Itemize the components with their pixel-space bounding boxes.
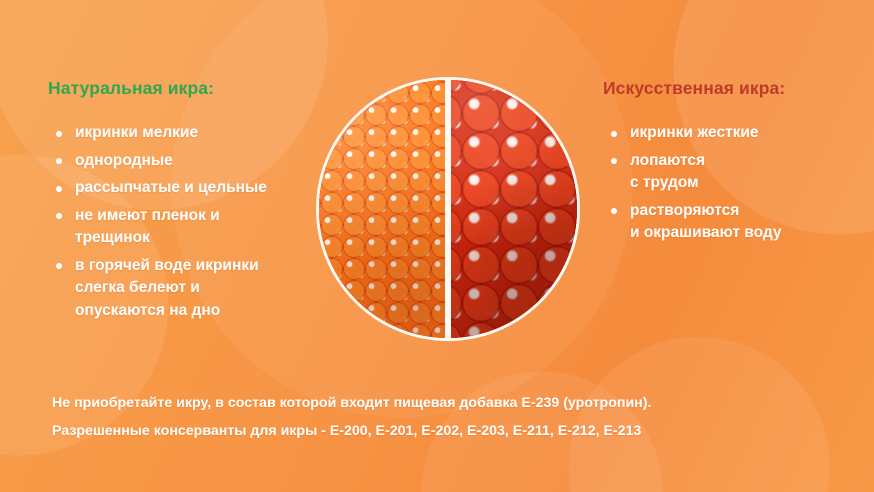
bullet-dot-icon xyxy=(56,186,62,192)
list-item: икринки жесткие xyxy=(603,122,861,145)
list-item-text-cont2: опускаются на дно xyxy=(75,300,328,323)
list-item-text-cont: с трудом xyxy=(630,172,861,195)
list-item-text: лопаются xyxy=(630,152,705,169)
bullet-dot-icon xyxy=(56,131,62,137)
large-red-eggs-texture xyxy=(448,80,577,338)
list-item-text-cont: трещинок xyxy=(75,227,328,250)
list-item: растворяются и окрашивают воду xyxy=(603,200,861,245)
infographic-poster: Натуральная икра: икринки мелкие однород… xyxy=(0,0,874,492)
artificial-caviar-photo-half xyxy=(448,80,577,338)
list-item-text: не имеют пленок и xyxy=(75,207,220,224)
natural-caviar-photo-half xyxy=(319,80,448,338)
list-item-text: икринки жесткие xyxy=(630,124,759,141)
list-item-text: рассыпчатые и цельные xyxy=(75,179,267,196)
bullet-dot-icon xyxy=(611,131,617,137)
list-item-text: в горячей воде икринки xyxy=(75,257,259,274)
bullet-dot-icon xyxy=(56,263,62,269)
bullet-dot-icon xyxy=(56,213,62,219)
caviar-comparison-image xyxy=(316,77,580,341)
bullet-dot-icon xyxy=(611,158,617,164)
artificial-caviar-heading: Искусственная икра: xyxy=(603,78,785,99)
image-divider xyxy=(445,80,451,338)
bullet-dot-icon xyxy=(56,158,62,164)
list-item: лопаются с трудом xyxy=(603,150,861,195)
artificial-caviar-list: икринки жесткие лопаются с трудом раство… xyxy=(603,122,861,250)
list-item-text-cont: слегка белеют и xyxy=(75,277,328,300)
list-item: рассыпчатые и цельные xyxy=(48,177,328,200)
bullet-dot-icon xyxy=(611,208,617,214)
list-item-text: растворяются xyxy=(630,202,739,219)
list-item-text: однородные xyxy=(75,152,173,169)
list-item: икринки мелкие xyxy=(48,122,328,145)
small-orange-eggs-texture xyxy=(319,80,448,338)
footer-note: Не приобретайте икру, в состав которой в… xyxy=(52,393,842,449)
footer-line-1: Не приобретайте икру, в состав которой в… xyxy=(52,393,842,413)
list-item: в горячей воде икринки слегка белеют и о… xyxy=(48,255,328,323)
natural-caviar-heading: Натуральная икра: xyxy=(48,78,214,99)
list-item-text-cont: и окрашивают воду xyxy=(630,222,861,245)
list-item: не имеют пленок и трещинок xyxy=(48,205,328,250)
list-item-text: икринки мелкие xyxy=(75,124,198,141)
list-item: однородные xyxy=(48,150,328,173)
footer-line-2: Разрешенные консерванты для икры - Е-200… xyxy=(52,421,842,441)
natural-caviar-list: икринки мелкие однородные рассыпчатые и … xyxy=(48,122,328,327)
